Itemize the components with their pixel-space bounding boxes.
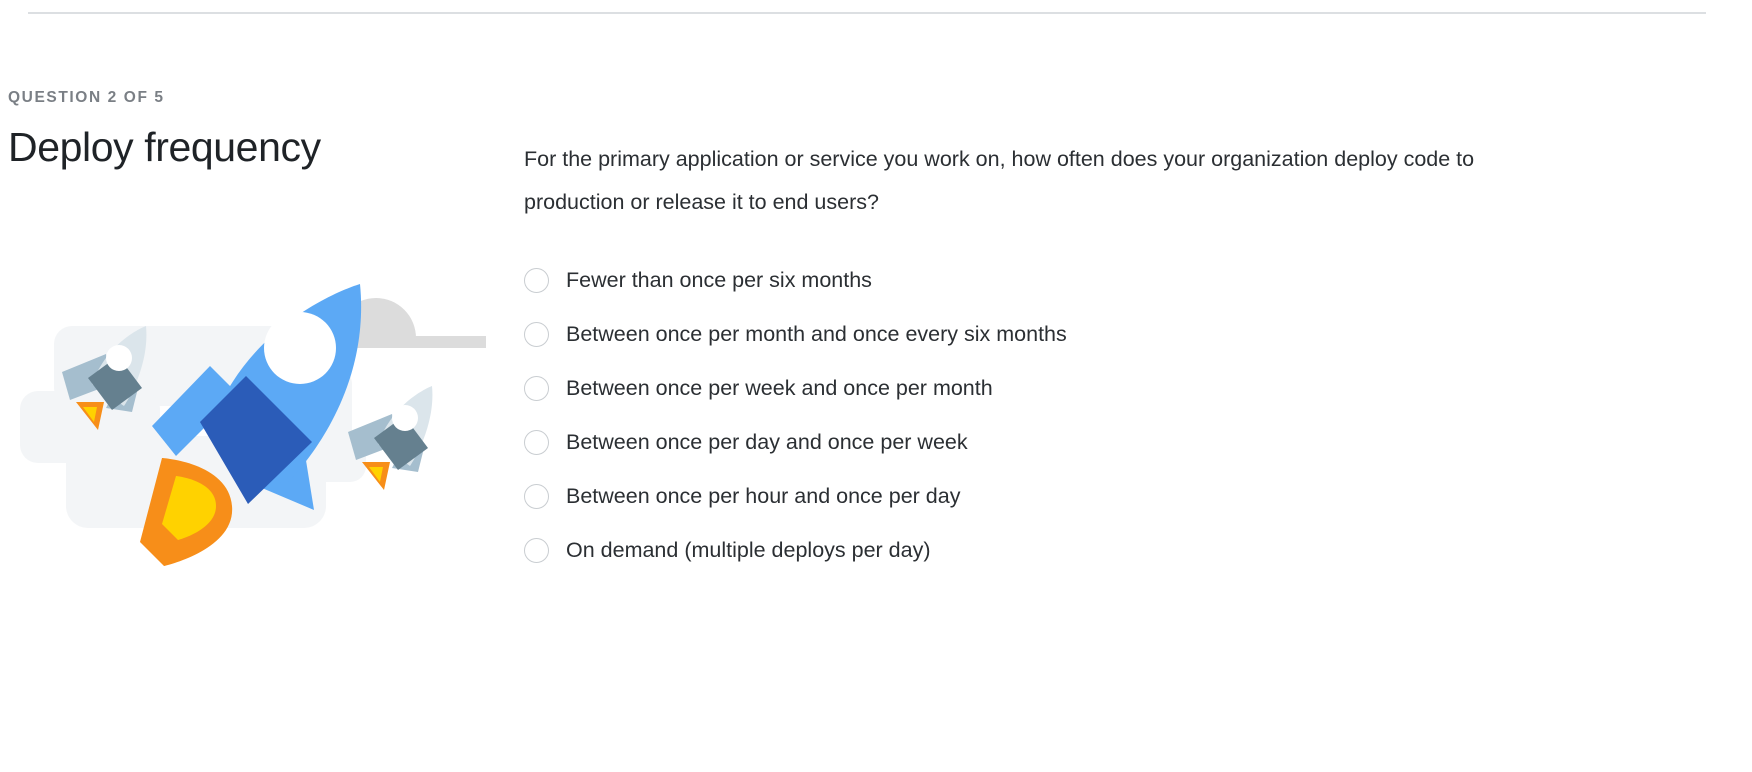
option-row-5[interactable]: On demand (multiple deploys per day) — [524, 523, 1584, 577]
option-row-2[interactable]: Between once per week and once per month — [524, 361, 1584, 415]
question-progress-label: QUESTION 2 OF 5 — [8, 88, 508, 108]
radio-button-icon[interactable] — [524, 322, 549, 347]
survey-question-page: QUESTION 2 OF 5 Deploy frequency — [0, 0, 1752, 772]
radio-button-icon[interactable] — [524, 430, 549, 455]
option-label: Between once per hour and once per day — [566, 482, 960, 510]
option-row-4[interactable]: Between once per hour and once per day — [524, 469, 1584, 523]
question-content: For the primary application or service y… — [524, 138, 1584, 577]
answer-options-list: Fewer than once per six months Between o… — [524, 253, 1584, 577]
radio-button-icon[interactable] — [524, 484, 549, 509]
radio-button-icon[interactable] — [524, 268, 549, 293]
question-prompt: For the primary application or service y… — [524, 138, 1499, 224]
option-label: Between once per day and once per week — [566, 428, 968, 456]
option-label: Between once per week and once per month — [566, 374, 993, 402]
option-label: Fewer than once per six months — [566, 266, 872, 294]
top-divider — [28, 12, 1706, 14]
option-row-3[interactable]: Between once per day and once per week — [524, 415, 1584, 469]
question-heading-block: QUESTION 2 OF 5 Deploy frequency — [8, 88, 508, 172]
page-title: Deploy frequency — [8, 122, 508, 172]
option-label: Between once per month and once every si… — [566, 320, 1067, 348]
option-row-1[interactable]: Between once per month and once every si… — [524, 307, 1584, 361]
radio-button-icon[interactable] — [524, 376, 549, 401]
option-row-0[interactable]: Fewer than once per six months — [524, 253, 1584, 307]
rockets-illustration — [0, 236, 500, 566]
radio-button-icon[interactable] — [524, 538, 549, 563]
option-label: On demand (multiple deploys per day) — [566, 536, 931, 564]
